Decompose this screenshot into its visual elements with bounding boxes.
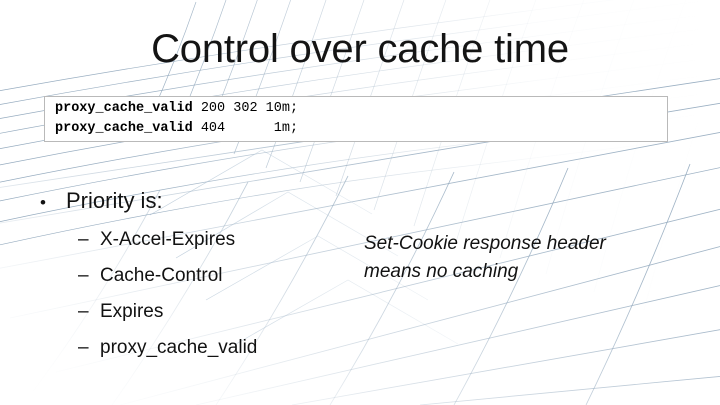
code-line: proxy_cache_valid 404 1m;	[45, 119, 667, 139]
side-note-line-2: means no caching	[364, 258, 654, 286]
code-directive: proxy_cache_valid	[55, 121, 193, 136]
code-directive: proxy_cache_valid	[55, 101, 193, 116]
bullet-dash-icon: –	[78, 261, 100, 290]
list-item: – Cache-Control	[78, 261, 370, 290]
list-item-label: Expires	[100, 297, 163, 326]
bullet-list: • Priority is: – X-Accel-Expires – Cache…	[40, 186, 370, 369]
list-item: – Expires	[78, 297, 370, 326]
page-title: Control over cache time	[0, 26, 720, 72]
code-arguments: 404 1m;	[193, 121, 298, 136]
bullet-dash-icon: –	[78, 333, 100, 362]
list-item: – proxy_cache_valid	[78, 333, 370, 362]
side-note-line-1: Set-Cookie response header	[364, 230, 654, 258]
list-item: • Priority is:	[40, 186, 370, 218]
list-item-label: Priority is:	[66, 186, 163, 216]
list-item-label: X-Accel-Expires	[100, 225, 235, 254]
side-note: Set-Cookie response header means no cach…	[364, 230, 654, 286]
list-item-label: Cache-Control	[100, 261, 223, 290]
bullet-dash-icon: –	[78, 225, 100, 254]
list-item-label: proxy_cache_valid	[100, 333, 257, 362]
bullet-dash-icon: –	[78, 297, 100, 326]
list-item: – X-Accel-Expires	[78, 225, 370, 254]
code-line: proxy_cache_valid 200 302 10m;	[45, 97, 667, 119]
slide-canvas: Control over cache time proxy_cache_vali…	[0, 0, 720, 405]
code-arguments: 200 302 10m;	[193, 101, 298, 116]
bullet-dot-icon: •	[40, 188, 66, 218]
code-snippet-box: proxy_cache_valid 200 302 10m; proxy_cac…	[44, 96, 668, 142]
